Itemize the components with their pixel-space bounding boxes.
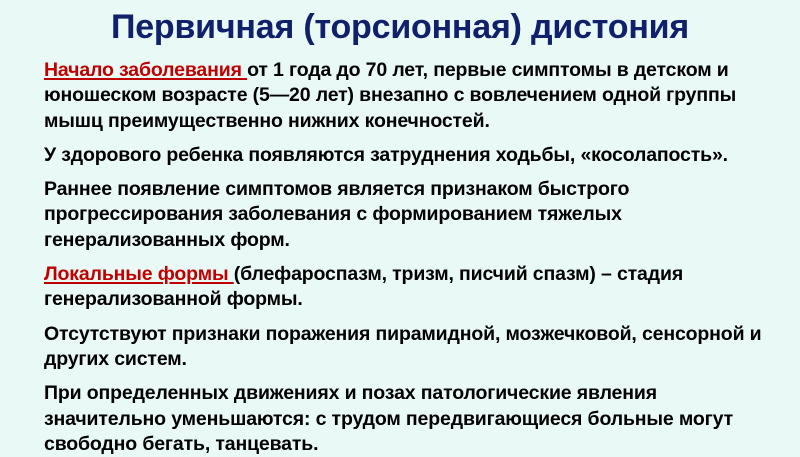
paragraph-onset-of-disease: Начало заболевания от 1 года до 70 лет, … (44, 58, 768, 134)
paragraph-movement-relief: При определенных движениях и позах патол… (44, 381, 768, 457)
paragraph-early-symptoms-progression: Раннее появление симптомов является приз… (44, 177, 768, 253)
lead-phrase-local-forms: Локальные формы (44, 263, 234, 285)
paragraph-text-early-symptoms-progression: Раннее появление симптомов является приз… (44, 178, 629, 251)
paragraph-healthy-child-gait: У здорового ребенка появляются затруднен… (44, 143, 768, 168)
paragraph-text-no-pyramidal-signs: Отсутствуют признаки поражения пирамидно… (44, 323, 762, 370)
slide-title: Первичная (торсионная) дистония (0, 6, 800, 48)
lead-phrase-onset-of-disease: Начало заболевания (44, 59, 247, 81)
slide-body: Начало заболевания от 1 года до 70 лет, … (44, 58, 768, 457)
paragraph-local-forms: Локальные формы (блефароспазм, тризм, пи… (44, 262, 768, 313)
presentation-slide: Первичная (торсионная) дистония Начало з… (0, 0, 800, 450)
paragraph-text-healthy-child-gait: У здорового ребенка появляются затруднен… (44, 144, 728, 166)
paragraph-no-pyramidal-signs: Отсутствуют признаки поражения пирамидно… (44, 322, 768, 373)
paragraph-text-movement-relief: При определенных движениях и позах патол… (44, 382, 733, 455)
